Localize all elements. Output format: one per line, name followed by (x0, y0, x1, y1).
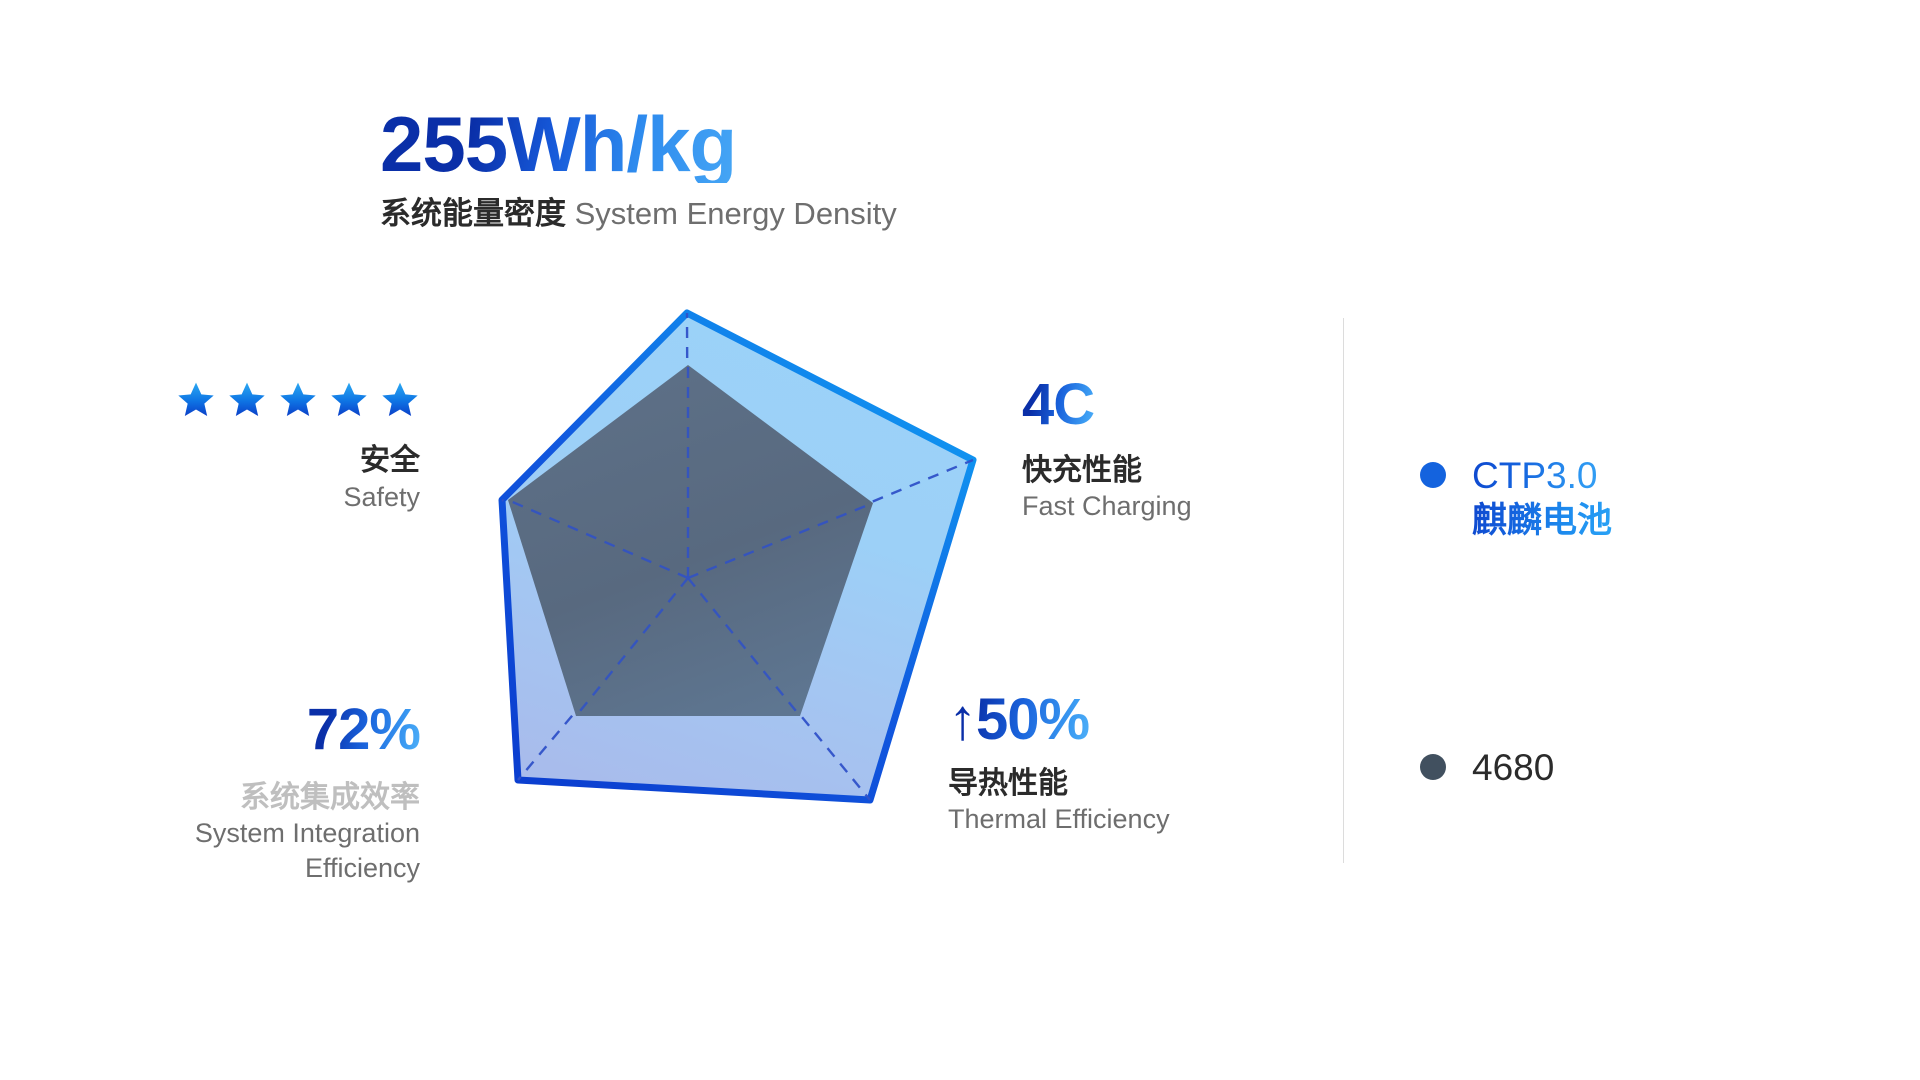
energy-density-label-en: System Energy Density (575, 196, 897, 231)
star-icon (227, 380, 267, 420)
legend-4680-line1: 4680 (1472, 744, 1554, 791)
legend-item-4680[interactable]: 4680 (1420, 744, 1750, 791)
star-icon (278, 380, 318, 420)
system-integration-value: 72% (307, 700, 420, 761)
legend-label-4680: 4680 (1472, 744, 1554, 791)
safety-label-en: Safety (60, 480, 420, 515)
energy-density-label-cn: 系统能量密度 (380, 196, 566, 231)
legend-ctp30-line1: CTP3.0 (1472, 452, 1612, 499)
system-integration-label-en-line1: System Integration (60, 816, 420, 851)
radar-axis-lines (502, 313, 973, 800)
fast-charging-label-cn: 快充性能 (1022, 452, 1442, 490)
metric-thermal-efficiency: ↑50% 导热性能 Thermal Efficiency (948, 690, 1378, 837)
metric-system-integration: 72% 系统集成效率 System Integration Efficiency (60, 700, 420, 885)
metric-safety: 安全 Safety (60, 380, 420, 514)
legend-item-ctp30[interactable]: CTP3.0 麒麟电池 (1420, 452, 1750, 544)
radar-axis-lines-overlay (508, 365, 873, 716)
vertical-divider (1343, 318, 1344, 863)
safety-star-rating (60, 380, 420, 420)
legend-label-ctp30: CTP3.0 麒麟电池 (1472, 452, 1612, 544)
radar-series-4680 (508, 365, 873, 716)
energy-density-value: 255Wh/kg (380, 105, 736, 183)
radar-series-ctp30 (502, 313, 973, 800)
thermal-efficiency-value: ↑50% (948, 690, 1089, 751)
star-icon (329, 380, 369, 420)
chart-legend: CTP3.0 麒麟电池 4680 (1420, 452, 1750, 792)
energy-density-label: 系统能量密度 System Energy Density (380, 195, 1280, 232)
thermal-efficiency-label-cn: 导热性能 (948, 765, 1378, 803)
system-integration-label-en-line2: Efficiency (60, 851, 420, 886)
legend-ctp30-line2: 麒麟电池 (1472, 499, 1612, 544)
metric-fast-charging: 4C 快充性能 Fast Charging (1022, 375, 1442, 524)
safety-label-cn: 安全 (60, 442, 420, 480)
headline-block: 255Wh/kg 系统能量密度 System Energy Density (380, 105, 1280, 232)
legend-marker-icon (1420, 462, 1446, 488)
thermal-efficiency-label-en: Thermal Efficiency (948, 802, 1378, 837)
fast-charging-value: 4C (1022, 375, 1094, 436)
star-icon (380, 380, 420, 420)
star-icon (176, 380, 216, 420)
system-integration-label-cn: 系统集成效率 (60, 779, 420, 817)
legend-marker-icon (1420, 754, 1446, 780)
fast-charging-label-en: Fast Charging (1022, 489, 1442, 524)
infographic-stage: 255Wh/kg 系统能量密度 System Energy Density 安全 (0, 0, 1920, 1080)
